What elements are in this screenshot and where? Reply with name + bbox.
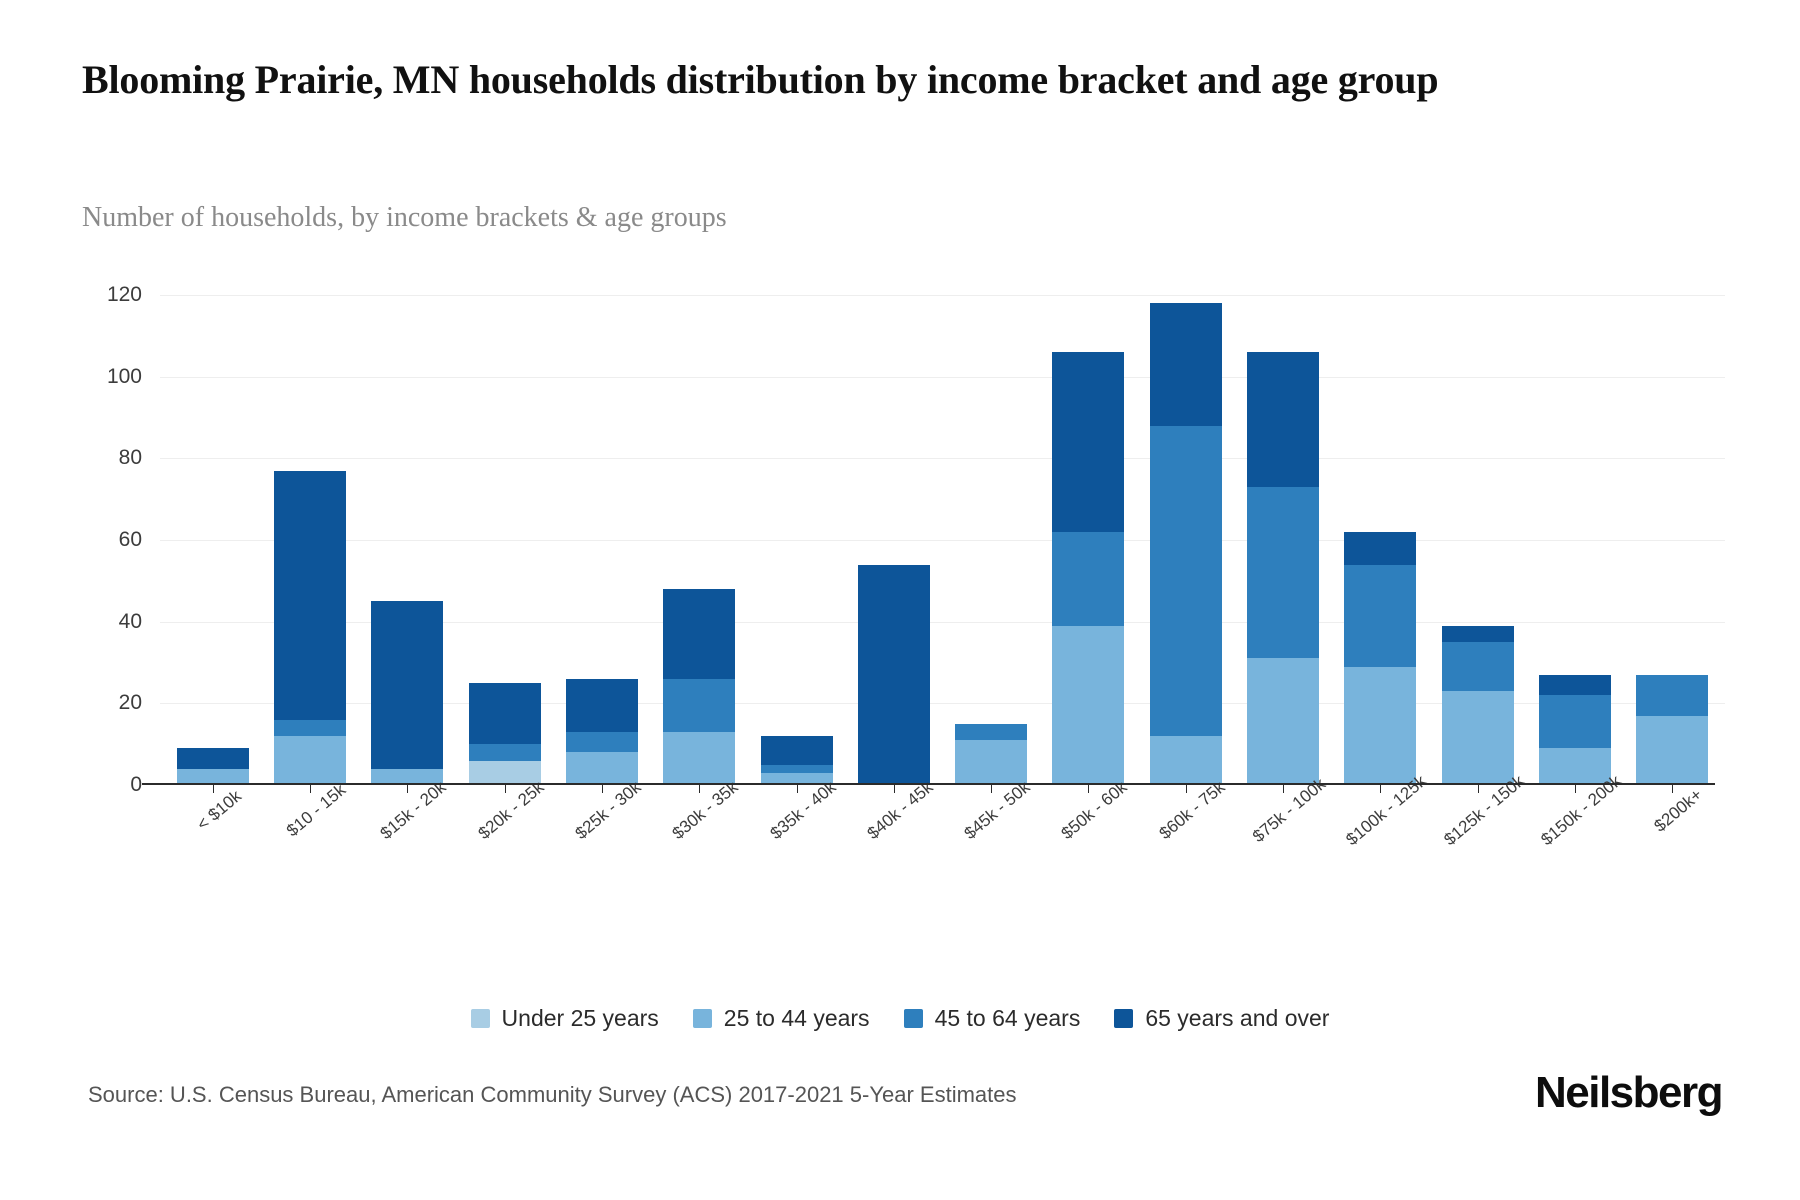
x-axis-tick — [310, 785, 311, 793]
legend-item[interactable]: Under 25 years — [471, 1005, 659, 1032]
y-axis-tick-label: 60 — [119, 528, 142, 552]
bar-segment[interactable] — [274, 736, 346, 785]
bar-segment[interactable] — [1442, 626, 1514, 642]
y-axis-tick-label: 40 — [119, 610, 142, 634]
bar-segment[interactable] — [1052, 352, 1124, 532]
bar-segment[interactable] — [1247, 658, 1319, 785]
bar-group: < $10k$10 - 15k$15k - 20k$20k - 25k$25k … — [160, 295, 1725, 785]
x-axis-tick — [1283, 785, 1284, 793]
x-axis-tick-label: $50k - 60k — [1058, 777, 1132, 843]
bar-segment[interactable] — [1052, 532, 1124, 626]
bar-segment[interactable] — [1150, 426, 1222, 736]
bar-column[interactable]: $15k - 20k — [359, 295, 456, 785]
stacked-bar[interactable] — [1539, 675, 1611, 785]
bar-column[interactable]: $50k - 60k — [1040, 295, 1137, 785]
legend-item[interactable]: 25 to 44 years — [693, 1005, 870, 1032]
legend-item[interactable]: 45 to 64 years — [904, 1005, 1081, 1032]
stacked-bar[interactable] — [955, 724, 1027, 785]
legend-label: 65 years and over — [1145, 1005, 1329, 1032]
bar-column[interactable]: $200k+ — [1624, 295, 1721, 785]
bar-segment[interactable] — [1636, 675, 1708, 716]
chart-plot-area: 020406080100120 < $10k$10 - 15k$15k - 20… — [160, 295, 1725, 785]
bar-segment[interactable] — [371, 601, 443, 768]
bar-segment[interactable] — [274, 471, 346, 720]
x-axis-tick-label: $60k - 75k — [1155, 777, 1229, 843]
bar-segment[interactable] — [1442, 642, 1514, 691]
bar-segment[interactable] — [663, 679, 735, 732]
legend-item[interactable]: 65 years and over — [1114, 1005, 1329, 1032]
bar-segment[interactable] — [1539, 675, 1611, 695]
chart-legend: Under 25 years25 to 44 years45 to 64 yea… — [0, 1005, 1800, 1032]
bar-segment[interactable] — [1247, 487, 1319, 659]
stacked-bar[interactable] — [1052, 352, 1124, 785]
y-axis-tick-label: 20 — [119, 691, 142, 715]
bar-segment[interactable] — [1150, 303, 1222, 426]
bar-segment[interactable] — [761, 765, 833, 773]
bar-segment[interactable] — [955, 724, 1027, 740]
bar-column[interactable]: $60k - 75k — [1137, 295, 1234, 785]
bar-segment[interactable] — [955, 740, 1027, 785]
bar-column[interactable]: $25k - 30k — [553, 295, 650, 785]
bar-segment[interactable] — [1052, 626, 1124, 785]
bar-segment[interactable] — [566, 679, 638, 732]
source-note: Source: U.S. Census Bureau, American Com… — [88, 1082, 1017, 1108]
stacked-bar[interactable] — [371, 601, 443, 785]
x-axis-tick-label: < $10k — [193, 786, 245, 834]
bar-segment[interactable] — [761, 736, 833, 765]
stacked-bar[interactable] — [761, 736, 833, 785]
stacked-bar[interactable] — [274, 471, 346, 785]
bar-column[interactable]: $20k - 25k — [456, 295, 553, 785]
bar-column[interactable]: $150k - 200k — [1526, 295, 1623, 785]
y-axis-tick-label: 100 — [107, 365, 142, 389]
legend-label: 45 to 64 years — [935, 1005, 1081, 1032]
y-axis-tick-label: 0 — [130, 773, 142, 797]
x-axis-tick — [894, 785, 895, 793]
y-axis-tick-label: 80 — [119, 446, 142, 470]
y-axis-tick-label: 120 — [107, 283, 142, 307]
legend-swatch-icon — [904, 1009, 923, 1028]
x-axis-tick-label: $45k - 50k — [961, 777, 1035, 843]
legend-swatch-icon — [1114, 1009, 1133, 1028]
stacked-bar[interactable] — [566, 679, 638, 785]
bar-segment[interactable] — [1150, 736, 1222, 785]
bar-segment[interactable] — [663, 732, 735, 785]
bar-segment[interactable] — [469, 744, 541, 760]
stacked-bar[interactable] — [1344, 532, 1416, 785]
bar-segment[interactable] — [469, 683, 541, 744]
x-axis-tick — [213, 785, 214, 793]
x-axis-tick — [1478, 785, 1479, 793]
x-axis-tick — [991, 785, 992, 793]
bar-segment[interactable] — [1539, 748, 1611, 785]
bar-segment[interactable] — [663, 589, 735, 679]
legend-label: 25 to 44 years — [724, 1005, 870, 1032]
legend-swatch-icon — [471, 1009, 490, 1028]
x-axis-tick — [1088, 785, 1089, 793]
brand-logo: Neilsberg — [1535, 1068, 1722, 1118]
bar-segment[interactable] — [1344, 565, 1416, 667]
stacked-bar[interactable] — [1636, 675, 1708, 785]
bar-column[interactable]: < $10k — [164, 295, 261, 785]
x-axis-tick — [699, 785, 700, 793]
legend-label: Under 25 years — [502, 1005, 659, 1032]
bar-column[interactable]: $125k - 150k — [1429, 295, 1526, 785]
bar-segment[interactable] — [177, 748, 249, 768]
x-axis-tick — [797, 785, 798, 793]
bar-segment[interactable] — [1539, 695, 1611, 748]
x-axis-tick-label: $15k - 20k — [377, 777, 451, 843]
stacked-bar[interactable] — [858, 565, 930, 786]
page-subtitle: Number of households, by income brackets… — [82, 202, 1582, 234]
x-axis-tick — [1186, 785, 1187, 793]
x-axis-tick-label: $10 - 15k — [283, 780, 350, 841]
bar-segment[interactable] — [566, 732, 638, 752]
stacked-bar[interactable] — [663, 589, 735, 785]
stacked-bar[interactable] — [1442, 626, 1514, 785]
bar-segment[interactable] — [1442, 691, 1514, 785]
x-axis-tick — [1575, 785, 1576, 793]
gridline: 0 — [160, 785, 1725, 786]
stacked-bar[interactable] — [1150, 303, 1222, 785]
bar-segment[interactable] — [858, 565, 930, 786]
x-axis-line — [142, 783, 1715, 785]
x-axis-tick-label: $35k - 40k — [766, 777, 840, 843]
stacked-bar[interactable] — [469, 683, 541, 785]
stacked-bar[interactable] — [177, 748, 249, 785]
stacked-bar[interactable] — [1247, 352, 1319, 785]
x-axis-tick-label: $200k+ — [1651, 785, 1707, 836]
bar-column[interactable]: $30k - 35k — [651, 295, 748, 785]
bar-segment[interactable] — [1247, 352, 1319, 487]
bar-segment[interactable] — [274, 720, 346, 736]
x-axis-tick-label: $40k - 45k — [863, 777, 937, 843]
bar-column[interactable]: $75k - 100k — [1234, 295, 1331, 785]
x-axis-tick — [1672, 785, 1673, 793]
bar-column[interactable]: $45k - 50k — [943, 295, 1040, 785]
bar-column[interactable]: $100k - 125k — [1332, 295, 1429, 785]
x-axis-tick — [407, 785, 408, 793]
bar-column[interactable]: $35k - 40k — [748, 295, 845, 785]
x-axis-tick — [602, 785, 603, 793]
chart-page: Blooming Prairie, MN households distribu… — [0, 0, 1800, 1200]
bar-segment[interactable] — [1636, 716, 1708, 785]
bar-segment[interactable] — [1344, 667, 1416, 785]
x-axis-tick-label: $25k - 30k — [571, 777, 645, 843]
x-axis-tick-label: $30k - 35k — [669, 777, 743, 843]
x-axis-tick — [505, 785, 506, 793]
bar-segment[interactable] — [566, 752, 638, 785]
bar-segment[interactable] — [1344, 532, 1416, 565]
bar-column[interactable]: $40k - 45k — [845, 295, 942, 785]
x-axis-tick-label: $20k - 25k — [474, 777, 548, 843]
page-title: Blooming Prairie, MN households distribu… — [82, 56, 1722, 105]
legend-swatch-icon — [693, 1009, 712, 1028]
bar-column[interactable]: $10 - 15k — [261, 295, 358, 785]
x-axis-tick — [1380, 785, 1381, 793]
